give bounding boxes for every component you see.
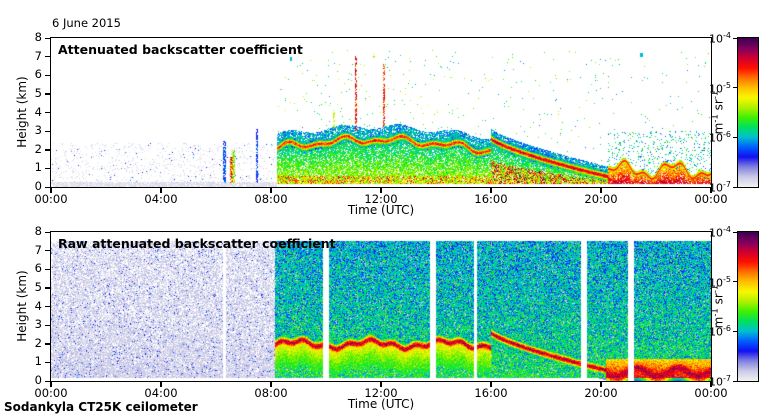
x-tick-label: 16:00: [468, 194, 514, 206]
y-tick-mark: [45, 56, 50, 57]
colorbar-tick-label: 10-4: [697, 225, 731, 240]
heatmap-canvas-attenuated-backscatter: [51, 38, 711, 187]
y-tick-label: 7: [20, 51, 42, 63]
colorbar-tick-mark: [733, 331, 737, 332]
plot-area-raw-attenuated-backscatter[interactable]: [50, 231, 712, 382]
colorbar-tick-label: 10-6: [697, 130, 731, 145]
y-tick-mark: [45, 250, 50, 251]
colorbar-tick-label: 10-5: [697, 275, 731, 290]
colorbar-gradient-top: [738, 38, 758, 187]
heatmap-canvas-raw-attenuated-backscatter: [51, 232, 711, 381]
colorbar-top: [737, 37, 759, 188]
y-tick-label: 8: [20, 32, 42, 44]
y-tick-mark: [45, 343, 50, 344]
y-tick-label: 6: [20, 69, 42, 81]
colorbar-tick-label: 10-4: [697, 31, 731, 46]
x-tick-label: 08:00: [248, 194, 294, 206]
x-tick-label: 20:00: [578, 194, 624, 206]
y-tick-mark: [45, 149, 50, 150]
y-tick-mark: [45, 287, 50, 288]
colorbar-tick-label: 10-7: [697, 374, 731, 389]
x-tick-label: 00:00: [28, 194, 74, 206]
y-tick-mark: [45, 75, 50, 76]
y-tick-mark: [45, 269, 50, 270]
y-tick-label: 3: [20, 319, 42, 331]
colorbar-tick-mark: [733, 187, 737, 188]
plot-area-attenuated-backscatter[interactable]: [50, 37, 712, 188]
y-tick-mark: [45, 168, 50, 169]
x-tick-label: 16:00: [468, 388, 514, 400]
x-tick-label: 00:00: [28, 388, 74, 400]
x-tick-label: 04:00: [138, 194, 184, 206]
x-tick-label: 00:00: [688, 194, 734, 206]
x-tick-label: 04:00: [138, 388, 184, 400]
colorbar-tick-label: 10-5: [697, 81, 731, 96]
colorbar-tick-mark: [733, 137, 737, 138]
colorbar-tick-label: 10-6: [697, 324, 731, 339]
x-tick-label: 12:00: [358, 388, 404, 400]
footer-caption: Sodankyla CT25K ceilometer: [4, 400, 198, 414]
y-tick-label: 6: [20, 263, 42, 275]
y-tick-label: 8: [20, 226, 42, 238]
ceilometer-figure: 6 June 2015 Attenuated backscatter coeff…: [0, 0, 780, 420]
colorbar-tick-mark: [733, 281, 737, 282]
y-tick-mark: [45, 187, 50, 188]
colorbar-bottom: [737, 231, 759, 382]
y-tick-mark: [45, 232, 50, 233]
y-tick-mark: [45, 306, 50, 307]
y-tick-label: 4: [20, 301, 42, 313]
y-tick-label: 0: [20, 181, 42, 193]
colorbar-gradient-bottom: [738, 232, 758, 381]
y-tick-mark: [45, 325, 50, 326]
y-tick-label: 0: [20, 375, 42, 387]
y-tick-label: 1: [20, 356, 42, 368]
colorbar-tick-label: 10-7: [697, 180, 731, 195]
colorbar-tick-mark: [733, 87, 737, 88]
y-tick-mark: [45, 362, 50, 363]
x-tick-label: 12:00: [358, 194, 404, 206]
y-tick-mark: [45, 112, 50, 113]
y-tick-label: 3: [20, 125, 42, 137]
y-tick-label: 2: [20, 144, 42, 156]
y-tick-label: 5: [20, 88, 42, 100]
y-tick-mark: [45, 93, 50, 94]
y-tick-label: 4: [20, 107, 42, 119]
x-tick-label: 00:00: [688, 388, 734, 400]
y-tick-mark: [45, 38, 50, 39]
date-title: 6 June 2015: [52, 16, 121, 30]
y-tick-mark: [45, 131, 50, 132]
colorbar-tick-mark: [733, 232, 737, 233]
y-tick-label: 5: [20, 282, 42, 294]
x-tick-label: 08:00: [248, 388, 294, 400]
y-tick-label: 2: [20, 338, 42, 350]
y-tick-label: 7: [20, 245, 42, 257]
colorbar-tick-mark: [733, 38, 737, 39]
y-tick-label: 1: [20, 162, 42, 174]
x-tick-label: 20:00: [578, 388, 624, 400]
colorbar-tick-mark: [733, 381, 737, 382]
y-tick-mark: [45, 381, 50, 382]
